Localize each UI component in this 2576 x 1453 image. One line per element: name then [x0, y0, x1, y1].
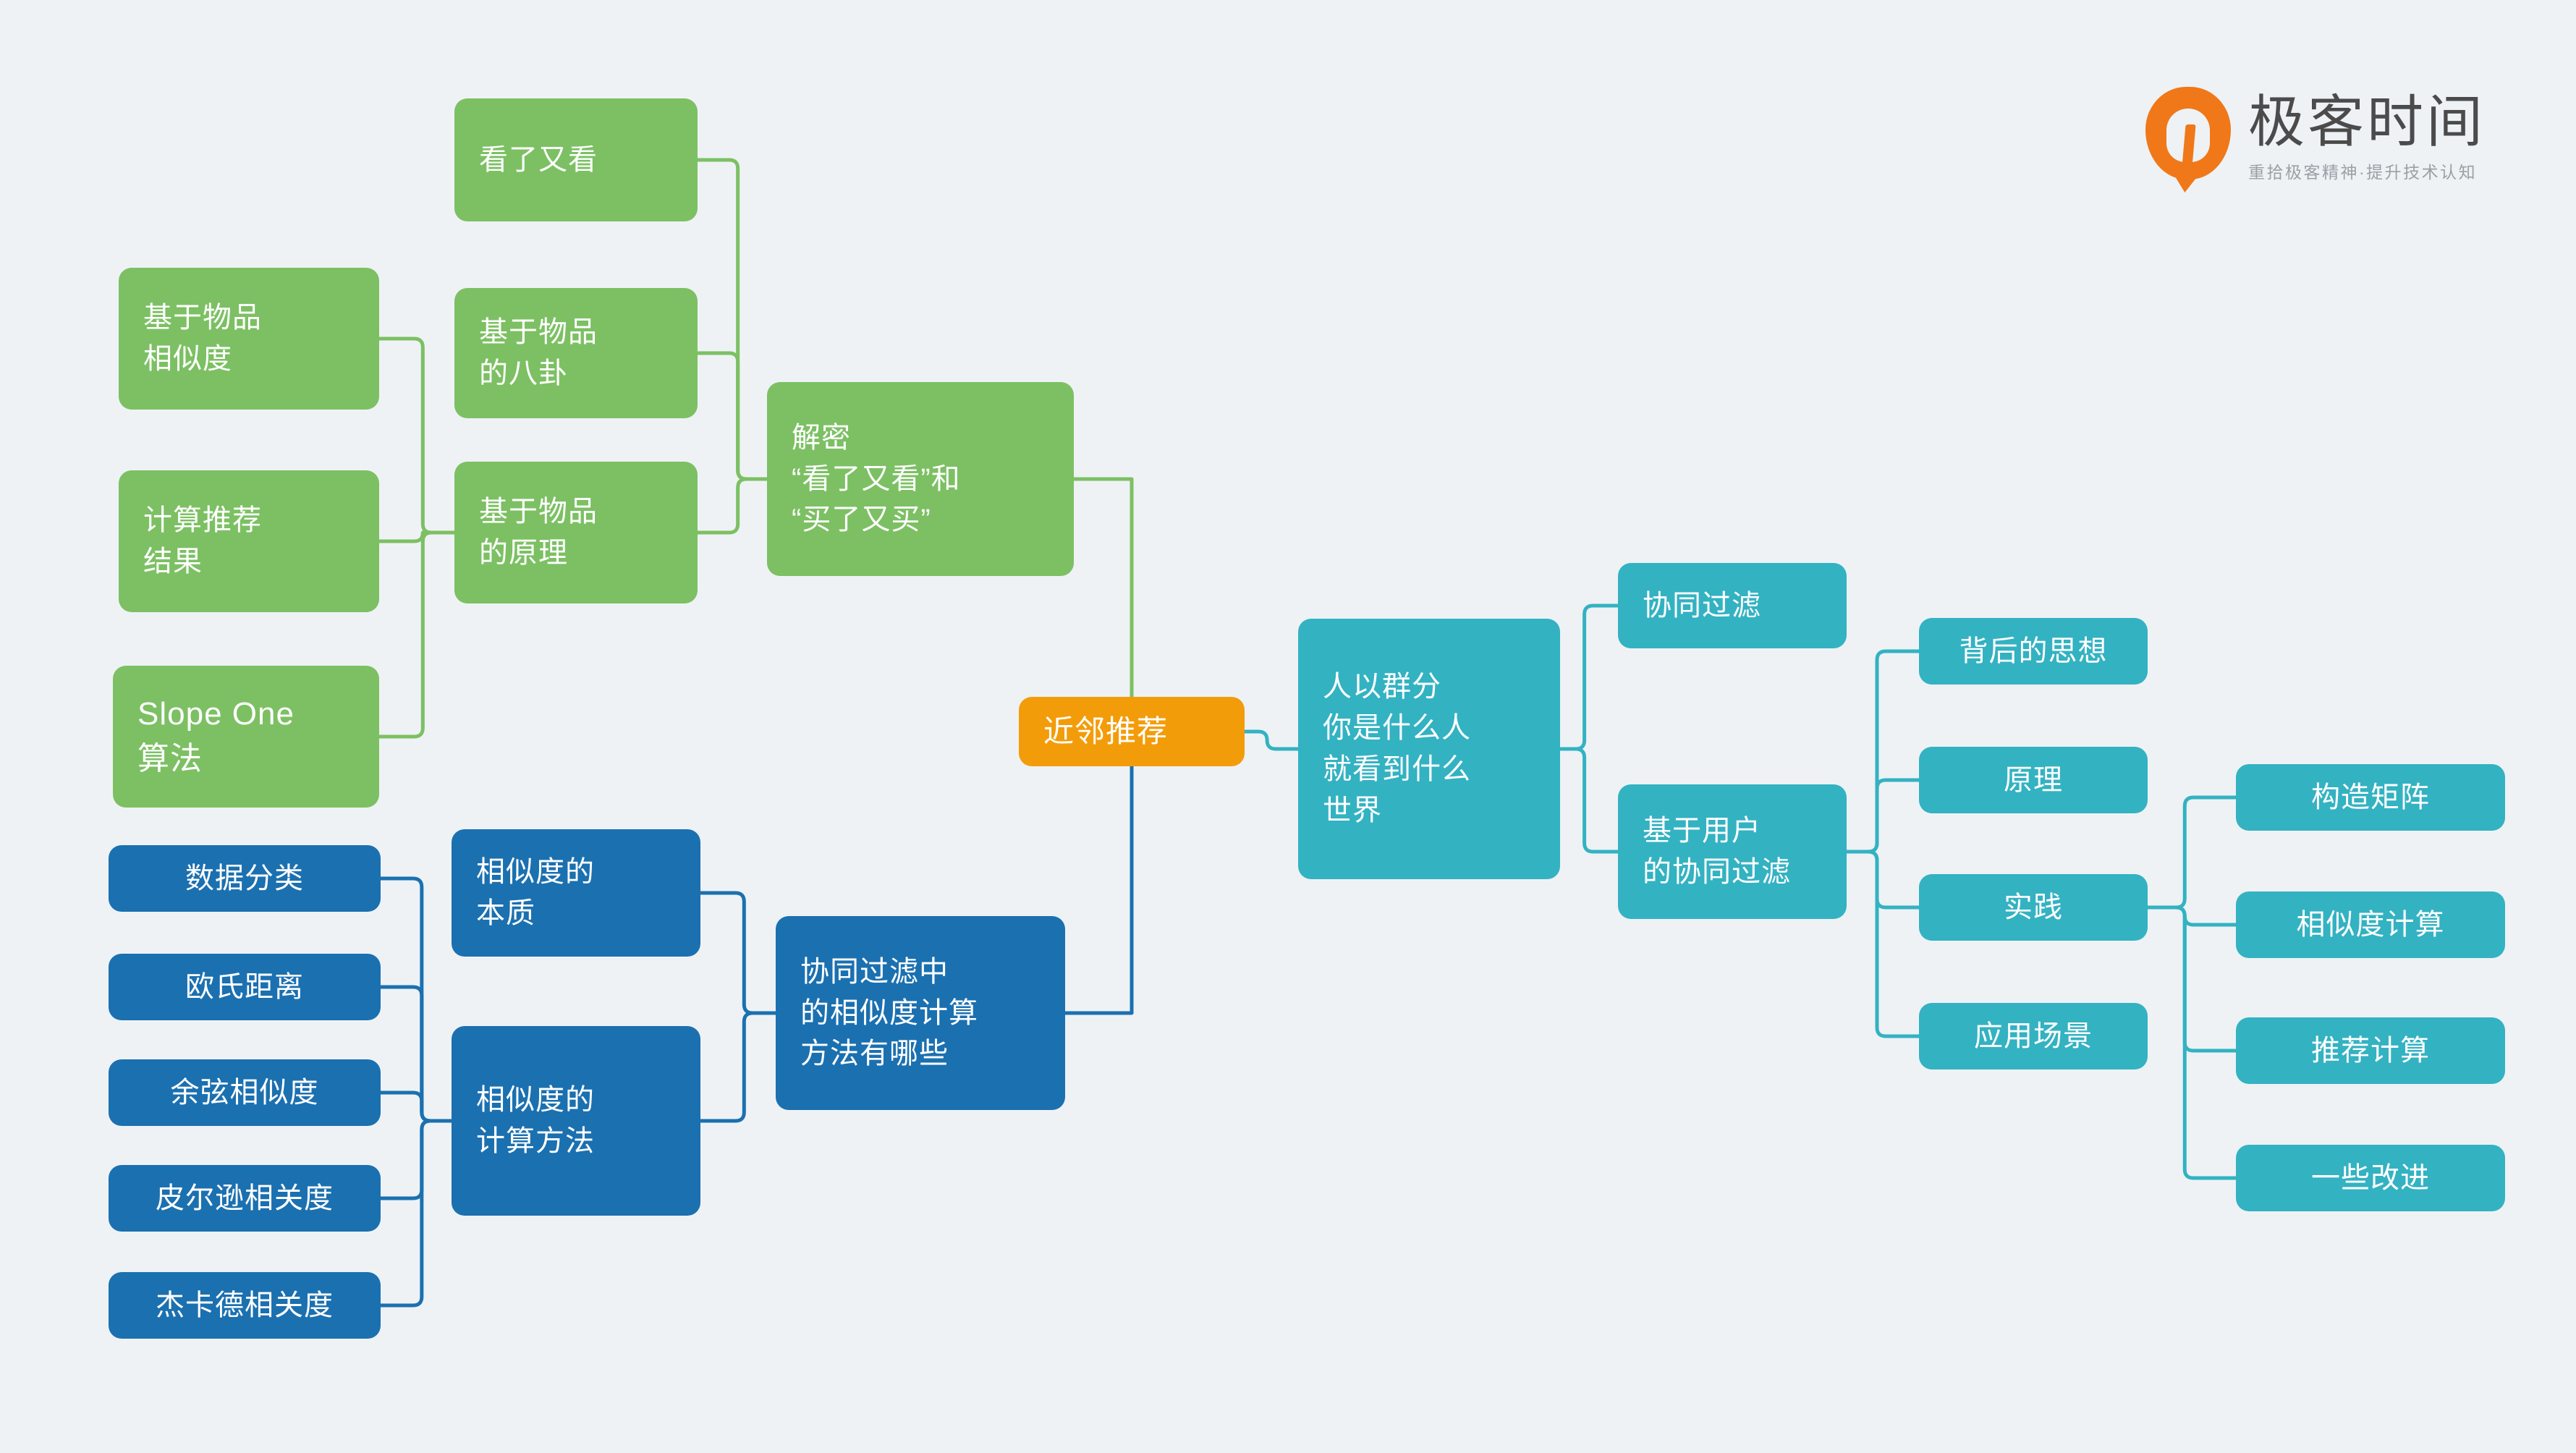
node-label: 推荐计算 — [2311, 1030, 2430, 1072]
mindmap-node-yuanli[interactable]: 原理 — [1919, 747, 2148, 813]
mindmap-node-root[interactable]: 近邻推荐 — [1019, 697, 1245, 766]
mindmap-node-tuijian-jisuan[interactable]: 推荐计算 — [2236, 1017, 2505, 1084]
node-label: 协同过滤 — [1643, 585, 1761, 627]
node-label: 相似度的 计算方法 — [476, 1080, 595, 1162]
node-label: 杰卡德相关度 — [156, 1285, 334, 1326]
mindmap-node-yixie-gaijin[interactable]: 一些改进 — [2236, 1145, 2505, 1211]
node-label: 相似度的 本质 — [476, 852, 595, 934]
node-label: 计算推荐 结果 — [143, 500, 262, 583]
node-label: 近邻推荐 — [1043, 710, 1168, 753]
mindmap-node-gouzao-juzhen[interactable]: 构造矩阵 — [2236, 764, 2505, 831]
mindmap-node-wupin-bagua[interactable]: 基于物品 的八卦 — [454, 288, 698, 418]
edge-shijian-to-tuijian-jisuan — [2148, 907, 2236, 1051]
edge-jiyu-yonghu-to-shijian — [1847, 852, 1919, 907]
mindmap-node-yingyong-changjing[interactable]: 应用场景 — [1919, 1003, 2148, 1069]
mindmap-node-jiekade[interactable]: 杰卡德相关度 — [109, 1272, 381, 1339]
node-label: 基于用户 的协同过滤 — [1643, 810, 1791, 893]
brand-title: 极客时间 — [2248, 92, 2486, 152]
mindmap-node-slope-one[interactable]: Slope One 算法 — [113, 666, 379, 808]
mindmap-node-shijian[interactable]: 实践 — [1919, 874, 2148, 941]
mindmap-node-benzhi[interactable]: 相似度的 本质 — [452, 829, 700, 957]
node-label: 一些改进 — [2311, 1158, 2430, 1199]
node-label: 实践 — [2004, 887, 2063, 928]
mindmap-node-beihou-sixiang[interactable]: 背后的思想 — [1919, 618, 2148, 685]
edge-shijian-to-gouzao-juzhen — [2148, 797, 2236, 907]
edge-jiemi-to-kanle-youkan — [698, 160, 767, 479]
brand-text: 极客时间 重拾极客精神·提升技术认知 — [2248, 92, 2486, 184]
node-label: 欧氏距离 — [185, 967, 304, 1008]
edge-wupin-yuanli-to-slope-one — [379, 533, 454, 737]
brand-logo: 极客时间 重拾极客精神·提升技术认知 — [2145, 87, 2507, 188]
node-label: 原理 — [2004, 760, 2063, 801]
node-label: 构造矩阵 — [2311, 777, 2430, 818]
mindmap-node-wupin-yuanli[interactable]: 基于物品 的原理 — [454, 462, 698, 603]
edge-root-to-renyiqunfen — [1245, 732, 1298, 749]
edge-xietong-xiangsidu-to-jisuan-fangfa — [700, 1013, 776, 1121]
mindmap-node-oushi-juli[interactable]: 欧氏距离 — [109, 954, 381, 1020]
node-label: 皮尔逊相关度 — [156, 1178, 334, 1219]
edge-jisuan-fangfa-to-yuxian-xiangsidu — [381, 1093, 452, 1121]
edge-jiyu-yonghu-to-yingyong-changjing — [1847, 852, 1919, 1036]
node-label: Slope One 算法 — [137, 692, 295, 782]
edge-root-to-jiemi — [1074, 479, 1132, 697]
node-label: 基于物品 的原理 — [479, 491, 598, 574]
node-label: 数据分类 — [185, 858, 304, 899]
edge-shijian-to-xiangsidu-jisuan — [2148, 907, 2236, 925]
mindmap-node-jiemi[interactable]: 解密 “看了又看”和 “买了又买” — [767, 382, 1074, 576]
mindmap-node-renyiqunfen[interactable]: 人以群分 你是什么人 就看到什么 世界 — [1298, 619, 1560, 879]
node-label: 应用场景 — [1974, 1016, 2093, 1057]
edge-wupin-yuanli-to-jisuan-tuijian — [379, 533, 454, 541]
mindmap-node-jisuan-fangfa[interactable]: 相似度的 计算方法 — [452, 1026, 700, 1216]
node-label: 相似度计算 — [2297, 905, 2445, 946]
node-label: 基于物品 的八卦 — [479, 312, 598, 394]
mindmap-node-xietong-xiangsidu[interactable]: 协同过滤中 的相似度计算 方法有哪些 — [776, 916, 1065, 1110]
edge-shijian-to-yixie-gaijin — [2148, 907, 2236, 1178]
mindmap-node-yuxian-xiangsidu[interactable]: 余弦相似度 — [109, 1059, 381, 1126]
node-label: 背后的思想 — [1959, 631, 2108, 672]
edge-jisuan-fangfa-to-pierxun — [381, 1121, 452, 1198]
geekbang-drop-icon — [2145, 87, 2231, 188]
brand-tagline: 重拾极客精神·提升技术认知 — [2248, 158, 2486, 183]
mindmap-node-jiyu-yonghu[interactable]: 基于用户 的协同过滤 — [1618, 784, 1847, 919]
mindmap-canvas: 近邻推荐解密 “看了又看”和 “买了又买”看了又看基于物品 的八卦基于物品 的原… — [0, 0, 2576, 1453]
node-label: 基于物品 相似度 — [143, 297, 262, 380]
edge-wupin-yuanli-to-wupin-xiangsidu — [379, 339, 454, 533]
edge-jiemi-to-wupin-bagua — [698, 353, 767, 479]
edge-renyiqunfen-to-xietong-guolv — [1560, 606, 1618, 749]
mindmap-node-wupin-xiangsidu[interactable]: 基于物品 相似度 — [119, 268, 379, 410]
edge-jisuan-fangfa-to-oushi-juli — [381, 987, 452, 1121]
edge-renyiqunfen-to-jiyu-yonghu — [1560, 749, 1618, 852]
mindmap-node-xietong-guolv[interactable]: 协同过滤 — [1618, 563, 1847, 648]
edge-root-to-xietong-xiangsidu — [1065, 766, 1132, 1013]
node-label: 协同过滤中 的相似度计算 方法有哪些 — [800, 952, 978, 1075]
node-label: 看了又看 — [479, 140, 598, 181]
mindmap-node-pierxun[interactable]: 皮尔逊相关度 — [109, 1165, 381, 1232]
edge-layer — [0, 0, 2576, 1453]
mindmap-node-jisuan-tuijian[interactable]: 计算推荐 结果 — [119, 470, 379, 612]
mindmap-node-xiangsidu-jisuan[interactable]: 相似度计算 — [2236, 891, 2505, 958]
mindmap-node-kanle-youkan[interactable]: 看了又看 — [454, 98, 698, 221]
edge-xietong-xiangsidu-to-benzhi — [700, 893, 776, 1013]
edge-jiyu-yonghu-to-yuanli — [1847, 780, 1919, 852]
edge-jisuan-fangfa-to-shuju-fenlei — [381, 878, 452, 1121]
node-label: 余弦相似度 — [171, 1072, 319, 1114]
node-label: 解密 “看了又看”和 “买了又买” — [792, 418, 961, 541]
edge-jisuan-fangfa-to-jiekade — [381, 1121, 452, 1305]
edge-jiyu-yonghu-to-beihou-sixiang — [1847, 651, 1919, 852]
mindmap-node-shuju-fenlei[interactable]: 数据分类 — [109, 845, 381, 912]
edge-jiemi-to-wupin-yuanli — [698, 479, 767, 533]
node-label: 人以群分 你是什么人 就看到什么 世界 — [1323, 666, 1471, 831]
